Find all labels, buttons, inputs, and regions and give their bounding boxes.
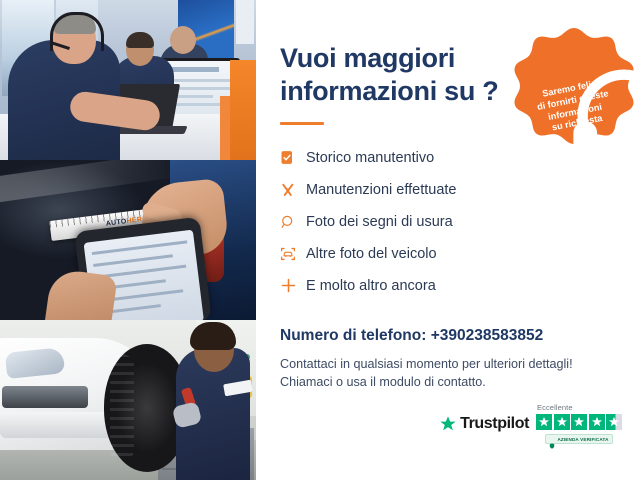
page-title-line-2: informazioni su ? [280, 75, 520, 108]
car-grille [2, 386, 88, 408]
trustpilot-rating-label: Eccellente [537, 403, 573, 412]
content-panel: Vuoi maggiori informazioni su ? Storico … [256, 0, 640, 480]
page-title: Vuoi maggiori informazioni su ? [280, 42, 520, 108]
page-title-line-1: Vuoi maggiori [280, 42, 520, 75]
plus-icon [280, 277, 306, 294]
verified-company-text: AZIENDA VERIFICATA [557, 437, 608, 442]
orange-signage-decor [230, 60, 256, 160]
trustpilot-rating[interactable]: Trustpilot Eccellente [439, 403, 622, 444]
photo-autohero-measuring-tape-on-car: AUTOHERO [0, 160, 256, 320]
feature-item-molto-altro: E molto altro ancora [280, 271, 640, 301]
car-scan-frame-icon [280, 246, 306, 262]
request-info-badge: Saremo felici di fornirti queste informa… [512, 26, 636, 150]
trustpilot-star-filled [589, 414, 605, 430]
headset-icon [562, 54, 586, 78]
shield-check-icon [549, 436, 555, 442]
magnifier-icon [280, 214, 306, 230]
verified-company-badge: AZIENDA VERIFICATA [545, 434, 612, 444]
tyre-tread [110, 354, 134, 462]
trustpilot-star-icon [439, 415, 457, 433]
photo-technician-inspecting-wheel [0, 320, 256, 480]
car-bumper [0, 412, 120, 438]
trustpilot-star-filled [554, 414, 570, 430]
tablet-row [93, 254, 173, 267]
contact-copy-line-1: Contattaci in qualsiasi momento per ulte… [280, 355, 640, 373]
feature-label: Altre foto del veicolo [306, 247, 437, 262]
wall-poster-secondary [236, 0, 254, 44]
feature-label: E molto altro ancora [306, 279, 436, 294]
trustpilot-stars [536, 414, 622, 430]
trustpilot-wordmark: Trustpilot [460, 415, 529, 433]
tablet-row [92, 240, 188, 255]
trustpilot-star-half [606, 414, 622, 430]
orange-signage-decor-secondary [220, 96, 230, 160]
feature-label: Manutenzioni effettuate [306, 183, 456, 198]
technician-hair [190, 322, 236, 350]
phone-number-line[interactable]: Numero di telefono: +390238583852 [280, 327, 640, 345]
clipboard-check-icon [280, 150, 306, 165]
feature-item-manutenzioni-effettuate: Manutenzioni effettuate [280, 175, 640, 205]
trustpilot-star-filled [536, 414, 552, 430]
trustpilot-star-filled [571, 414, 587, 430]
trustpilot-score-block: Eccellente [536, 403, 622, 444]
feature-item-foto-segni-usura: Foto dei segni di usura [280, 207, 640, 237]
agent-background-right-head [170, 26, 196, 54]
contact-info-banner: AUTOHERO [0, 0, 640, 480]
trustpilot-logo: Trustpilot [439, 415, 529, 433]
title-divider [280, 122, 324, 125]
contact-copy: Contattaci in qualsiasi momento per ulte… [280, 355, 640, 392]
contact-copy-line-2: Chiamaci o usa il modulo di contatto. [280, 373, 640, 391]
photo-column: AUTOHERO [0, 0, 256, 480]
photo-call-center-agents-with-headsets [0, 0, 256, 160]
agent-background-middle-hair [126, 32, 154, 48]
feature-item-altre-foto-veicolo: Altre foto del veicolo [280, 239, 640, 269]
tools-wrench-icon [280, 182, 306, 198]
feature-label: Foto dei segni di usura [306, 215, 453, 230]
feature-label: Storico manutentivo [306, 151, 434, 166]
